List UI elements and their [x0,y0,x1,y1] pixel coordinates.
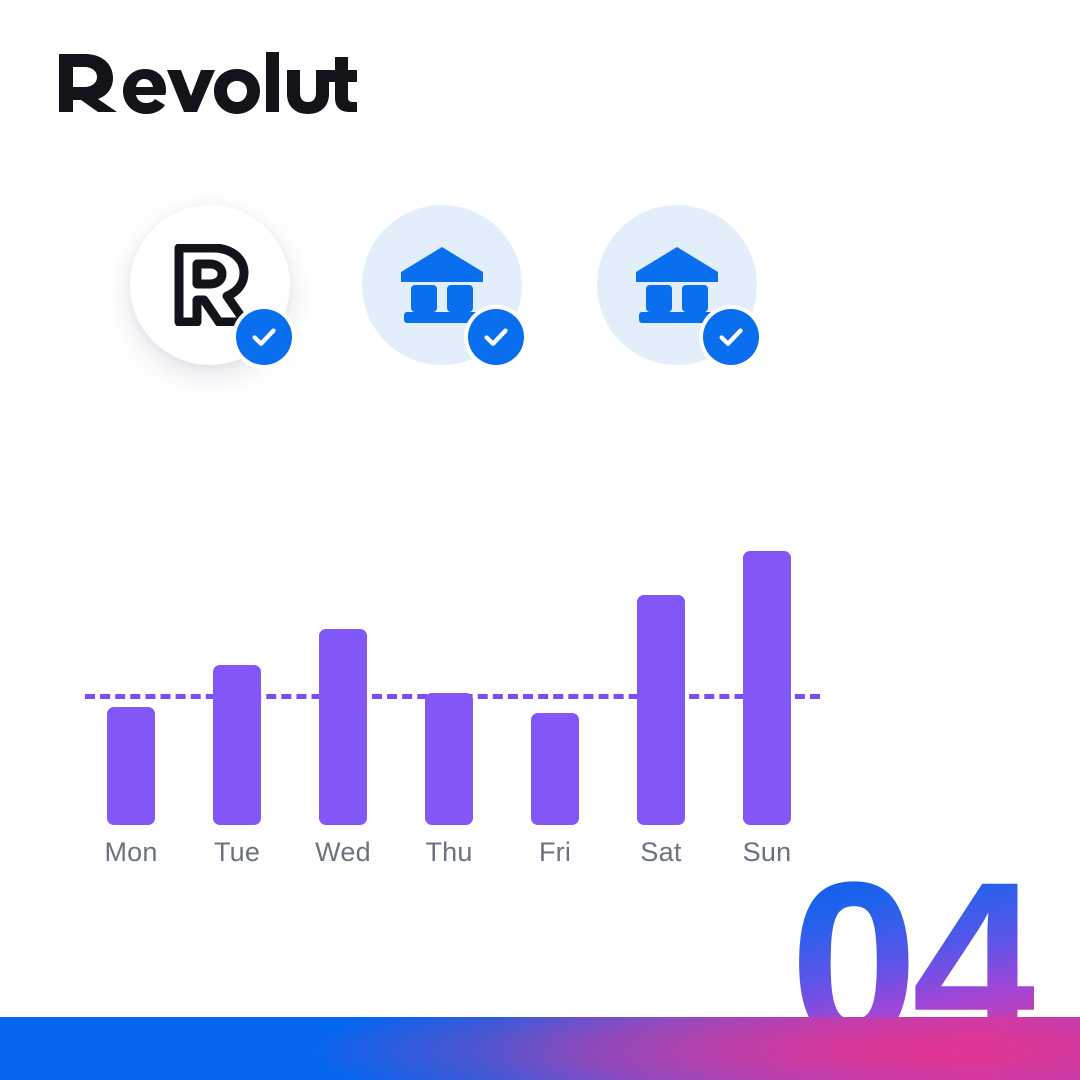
weekly-spend-chart: MonTueWedThuFriSatSun [85,545,845,885]
x-axis-label-mon: Mon [86,837,176,868]
bar-tue[interactable] [213,665,261,825]
poster-canvas: MonTueWedThuFriSatSun 04 [0,0,1080,1080]
x-axis-label-wed: Wed [298,837,388,868]
account-avatar-bank-2[interactable] [597,205,757,365]
linked-accounts [130,205,810,385]
check-icon [249,322,279,352]
account-avatar-bank-1[interactable] [362,205,522,365]
chart-x-axis: MonTueWedThuFriSatSun [85,837,845,877]
x-axis-label-fri: Fri [510,837,600,868]
bank-icon [634,245,720,325]
x-axis-label-sat: Sat [616,837,706,868]
check-icon [481,322,511,352]
verified-badge-fill [236,309,292,365]
x-axis-label-tue: Tue [192,837,282,868]
footer-gradient-band [0,1017,1080,1080]
revolut-r-logo-icon [171,244,249,326]
bar-sat[interactable] [637,595,685,825]
bar-wed[interactable] [319,629,367,825]
verified-badge [232,305,296,369]
bar-sun[interactable] [743,551,791,825]
account-avatar-revolut[interactable] [130,205,290,365]
verified-badge-fill [703,309,759,365]
verified-badge [464,305,528,369]
verified-badge-fill [468,309,524,365]
check-icon [716,322,746,352]
verified-badge [699,305,763,369]
bank-icon [399,245,485,325]
chart-plot-area [85,545,845,825]
bar-mon[interactable] [107,707,155,825]
bar-fri[interactable] [531,713,579,825]
x-axis-label-thu: Thu [404,837,494,868]
bar-thu[interactable] [425,693,473,825]
revolut-wordmark [57,52,357,114]
